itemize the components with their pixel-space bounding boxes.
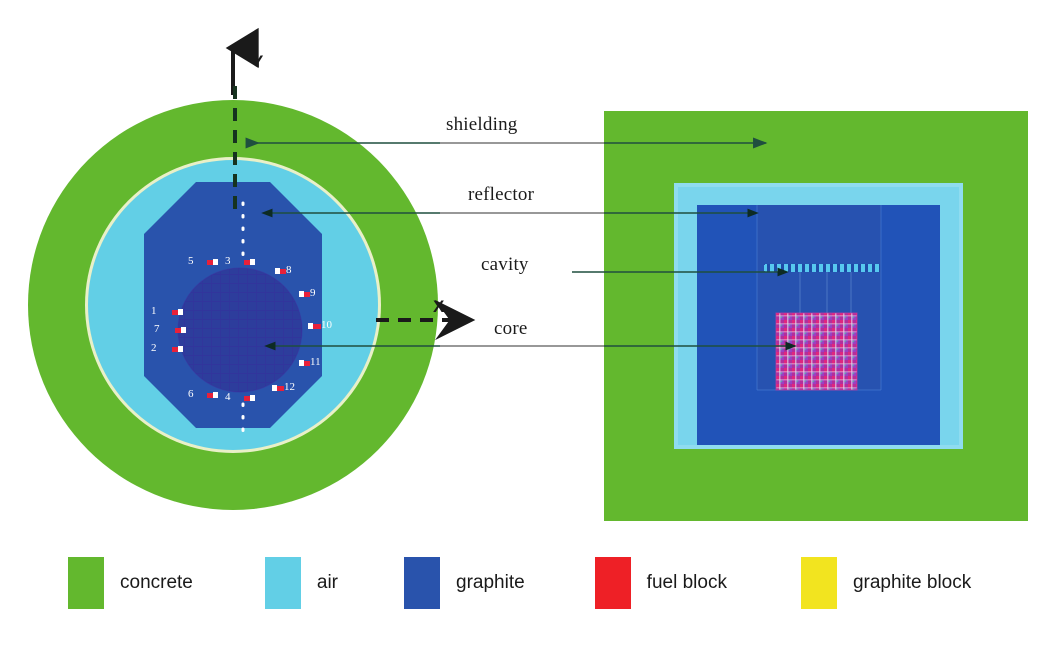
legend-item-graphite-block: graphite block xyxy=(801,552,971,614)
diagram-canvas: shielding reflector cavity core Y X 1234… xyxy=(0,0,1061,662)
detector-marker-label-12: 12 xyxy=(284,382,295,393)
y-axis-label: Y xyxy=(252,52,263,72)
legend-label-concrete: concrete xyxy=(120,572,193,594)
legend-swatch-graphite xyxy=(404,557,440,609)
callout-label-shielding: shielding xyxy=(446,114,517,136)
legend-item-concrete: concrete xyxy=(68,552,193,614)
legend-item-air: air xyxy=(265,552,338,614)
right-panel-vertical-cross-section xyxy=(604,111,1028,521)
legend-label-graphite: graphite xyxy=(456,572,525,594)
detector-marker-label-6: 6 xyxy=(188,389,194,400)
legend-label-fuel-block: fuel block xyxy=(647,572,727,594)
legend: concrete air graphite fuel block graphit… xyxy=(68,552,1028,614)
legend-swatch-graphite-block xyxy=(801,557,837,609)
callout-label-cavity: cavity xyxy=(481,254,529,276)
legend-swatch-concrete xyxy=(68,557,104,609)
left-panel-horizontal-cross-section xyxy=(28,48,468,510)
legend-label-air: air xyxy=(317,572,338,594)
right-cavity-strip-left-dashes xyxy=(764,265,786,271)
x-axis-label: X xyxy=(433,297,444,317)
detector-marker-label-10: 10 xyxy=(321,320,332,331)
callout-label-core: core xyxy=(494,318,528,340)
callout-label-reflector: reflector xyxy=(468,184,534,206)
detector-marker-label-2: 2 xyxy=(151,343,157,354)
legend-item-fuel-block: fuel block xyxy=(595,552,727,614)
legend-item-graphite: graphite xyxy=(404,552,525,614)
detector-marker-label-4: 4 xyxy=(225,392,231,403)
detector-marker-label-5: 5 xyxy=(188,256,194,267)
detector-marker-label-3: 3 xyxy=(225,256,231,267)
detector-marker-label-8: 8 xyxy=(286,265,292,276)
legend-swatch-fuel-block xyxy=(595,557,631,609)
legend-swatch-air xyxy=(265,557,301,609)
detector-marker-label-9: 9 xyxy=(310,288,316,299)
detector-marker-label-7: 7 xyxy=(154,324,160,335)
left-core-region xyxy=(178,268,302,392)
right-fuel-lattice xyxy=(776,313,857,390)
legend-label-graphite-block: graphite block xyxy=(853,572,971,594)
detector-marker-label-1: 1 xyxy=(151,306,157,317)
detector-marker-label-11: 11 xyxy=(310,357,321,368)
